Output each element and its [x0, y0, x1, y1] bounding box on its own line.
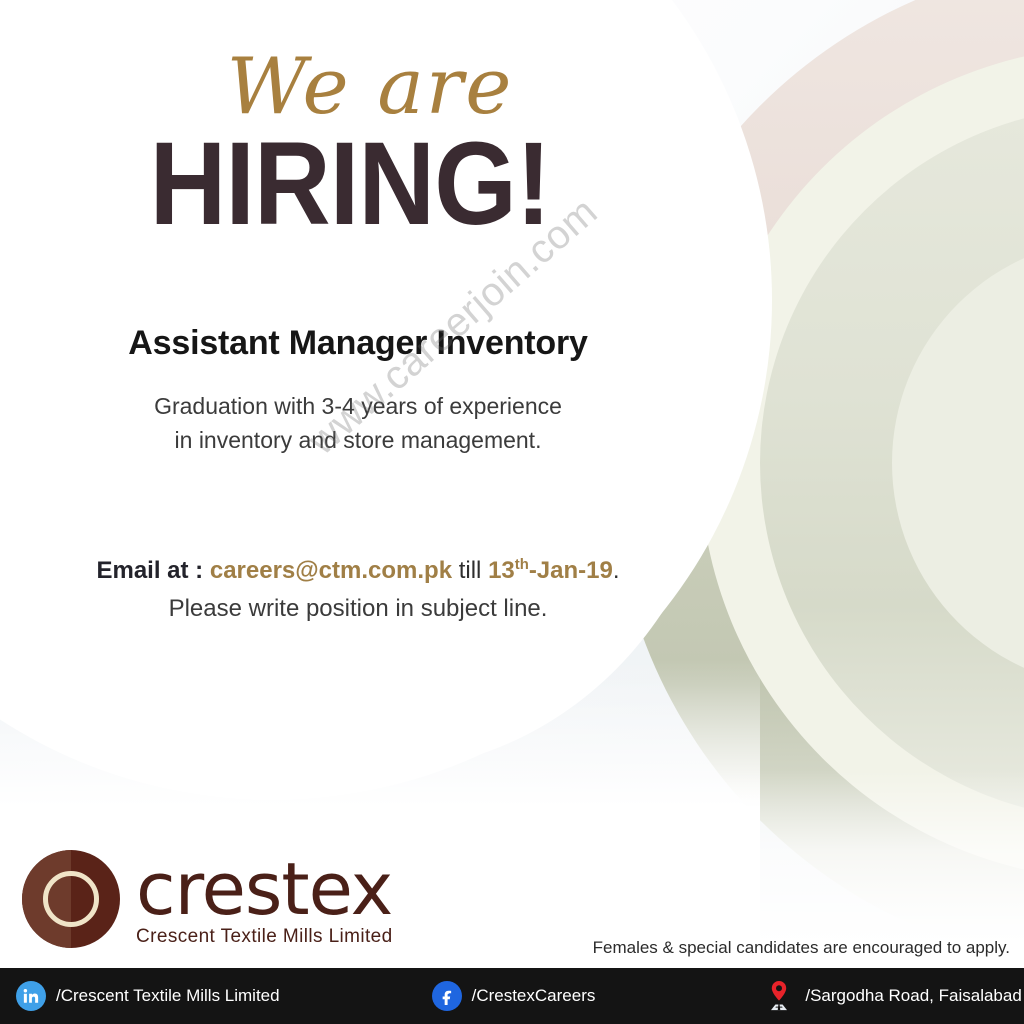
location-pin-icon	[763, 979, 795, 1013]
footer-label-linkedin: /Crescent Textile Mills Limited	[56, 986, 280, 1006]
subject-line-note: Please write position in subject line.	[0, 595, 716, 623]
footer-item-location[interactable]: /Sargodha Road, Faisalabad	[763, 979, 1021, 1013]
logo-text-column: crestex Crescent Textile Mills Limited	[136, 850, 393, 948]
deadline-day: 13	[488, 557, 515, 584]
application-deadline: 13th-Jan-19	[488, 557, 613, 584]
logo-word-tex: tex	[281, 847, 392, 931]
till-word: till	[459, 557, 482, 584]
footer-label-facebook: /CrestexCareers	[472, 986, 596, 1006]
job-title: Assistant Manager Inventory	[0, 324, 716, 363]
footer-item-linkedin[interactable]: /Crescent Textile Mills Limited	[16, 981, 280, 1011]
company-logo: crestex Crescent Textile Mills Limited	[22, 850, 393, 948]
footer-item-facebook[interactable]: /CrestexCareers	[432, 981, 596, 1011]
logo-tagline: Crescent Textile Mills Limited	[136, 926, 393, 948]
facebook-icon	[432, 981, 462, 1011]
email-line: Email at : careers@ctm.com.pk till 13th-…	[0, 557, 716, 585]
deadline-period: .	[613, 557, 620, 584]
logo-wordmark: crestex	[136, 856, 393, 922]
logo-word-cres: cres	[136, 847, 281, 931]
footer-label-location: /Sargodha Road, Faisalabad	[805, 986, 1021, 1006]
email-label: Email at :	[96, 557, 203, 584]
job-content-block: Assistant Manager Inventory Graduation w…	[0, 324, 716, 623]
linkedin-icon	[16, 981, 46, 1011]
footer-bar: /Crescent Textile Mills Limited /Crestex…	[0, 968, 1024, 1024]
hiring-poster: We are HIRING! Assistant Manager Invento…	[0, 0, 1024, 1024]
crestex-logo-mark-icon	[22, 850, 120, 948]
email-address[interactable]: careers@ctm.com.pk	[210, 557, 452, 584]
equal-opportunity-note: Females & special candidates are encoura…	[593, 938, 1010, 958]
logo-inner-ring	[43, 871, 99, 927]
deadline-rest: -Jan-19	[529, 557, 613, 584]
headline-script: We are	[0, 48, 700, 126]
deadline-ordinal: th	[515, 557, 529, 573]
